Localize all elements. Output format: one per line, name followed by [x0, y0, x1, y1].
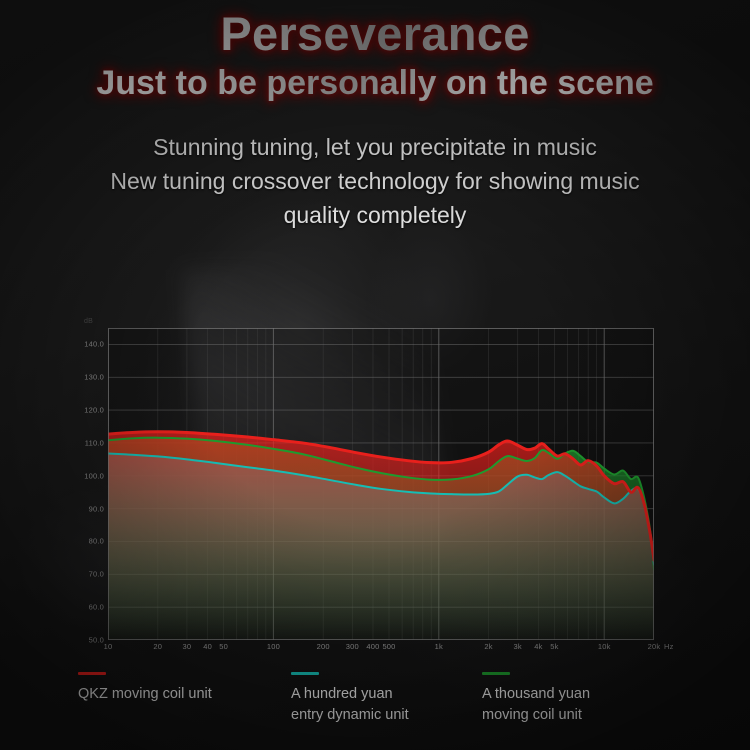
- x-tick-label: 40: [203, 642, 212, 651]
- legend-item: A hundred yuan entry dynamic unit: [291, 672, 409, 725]
- y-tick-label: 70.0: [89, 570, 104, 579]
- description-line-2: New tuning crossover technology for show…: [0, 165, 750, 199]
- x-tick-label: 100: [267, 642, 280, 651]
- chart-plot-area: [108, 328, 654, 640]
- x-unit-label: Hz: [664, 642, 674, 651]
- legend-label: A hundred yuan: [291, 684, 409, 705]
- x-tick-label: 3k: [514, 642, 522, 651]
- y-tick-label: 80.0: [89, 537, 104, 546]
- x-tick-label: 10: [104, 642, 113, 651]
- legend-label: QKZ moving coil unit: [78, 684, 212, 705]
- x-tick-label: 300: [346, 642, 359, 651]
- title-block: Perseverance Just to be personally on th…: [0, 0, 750, 103]
- legend-label-line2: moving coil unit: [482, 705, 590, 726]
- page-title: Perseverance: [0, 8, 750, 61]
- y-tick-label: 130.0: [84, 373, 104, 382]
- y-tick-label: 140.0: [84, 340, 104, 349]
- x-tick-label: 30: [183, 642, 192, 651]
- x-tick-label: 400: [366, 642, 379, 651]
- y-tick-label: 100.0: [84, 471, 104, 480]
- y-tick-label: 120.0: [84, 406, 104, 415]
- chart-y-axis-labels: 140.0130.0120.0110.0100.090.080.070.060.…: [78, 318, 108, 650]
- x-tick-label: 500: [382, 642, 395, 651]
- x-tick-label: 4k: [534, 642, 542, 651]
- legend-label-line2: entry dynamic unit: [291, 705, 409, 726]
- legend-color-swatch: [482, 672, 510, 675]
- series-area: [108, 432, 654, 640]
- y-tick-label: 90.0: [89, 504, 104, 513]
- legend-label: A thousand yuan: [482, 684, 590, 705]
- chart-svg: [108, 328, 654, 640]
- x-tick-label: 2k: [484, 642, 492, 651]
- legend-item: A thousand yuan moving coil unit: [482, 672, 590, 725]
- legend-color-swatch: [291, 672, 319, 675]
- frequency-response-chart: dB 140.0130.0120.0110.0100.090.080.070.0…: [78, 318, 678, 648]
- description-line-3: quality completely: [0, 199, 750, 233]
- y-tick-label: 50.0: [89, 636, 104, 645]
- description-block: Stunning tuning, let you precipitate in …: [0, 131, 750, 232]
- x-tick-label: 5k: [550, 642, 558, 651]
- y-tick-label: 60.0: [89, 603, 104, 612]
- y-tick-label: 110.0: [85, 438, 104, 447]
- x-tick-label: 20: [153, 642, 162, 651]
- x-tick-label: 200: [317, 642, 330, 651]
- x-tick-label: 10k: [598, 642, 611, 651]
- chart-x-axis-labels: 10203040501002003004005001k2k3k4k5k10k20…: [108, 640, 668, 656]
- page-subtitle: Just to be personally on the scene: [0, 63, 750, 104]
- description-line-1: Stunning tuning, let you precipitate in …: [0, 131, 750, 165]
- promo-banner: Perseverance Just to be personally on th…: [0, 0, 750, 750]
- legend-color-swatch: [78, 672, 106, 675]
- x-tick-label: 20k: [648, 642, 661, 651]
- legend-item: QKZ moving coil unit: [78, 672, 212, 705]
- x-tick-label: 50: [219, 642, 228, 651]
- chart-legend: QKZ moving coil unit A hundred yuan entr…: [78, 672, 698, 742]
- x-tick-label: 1k: [435, 642, 443, 651]
